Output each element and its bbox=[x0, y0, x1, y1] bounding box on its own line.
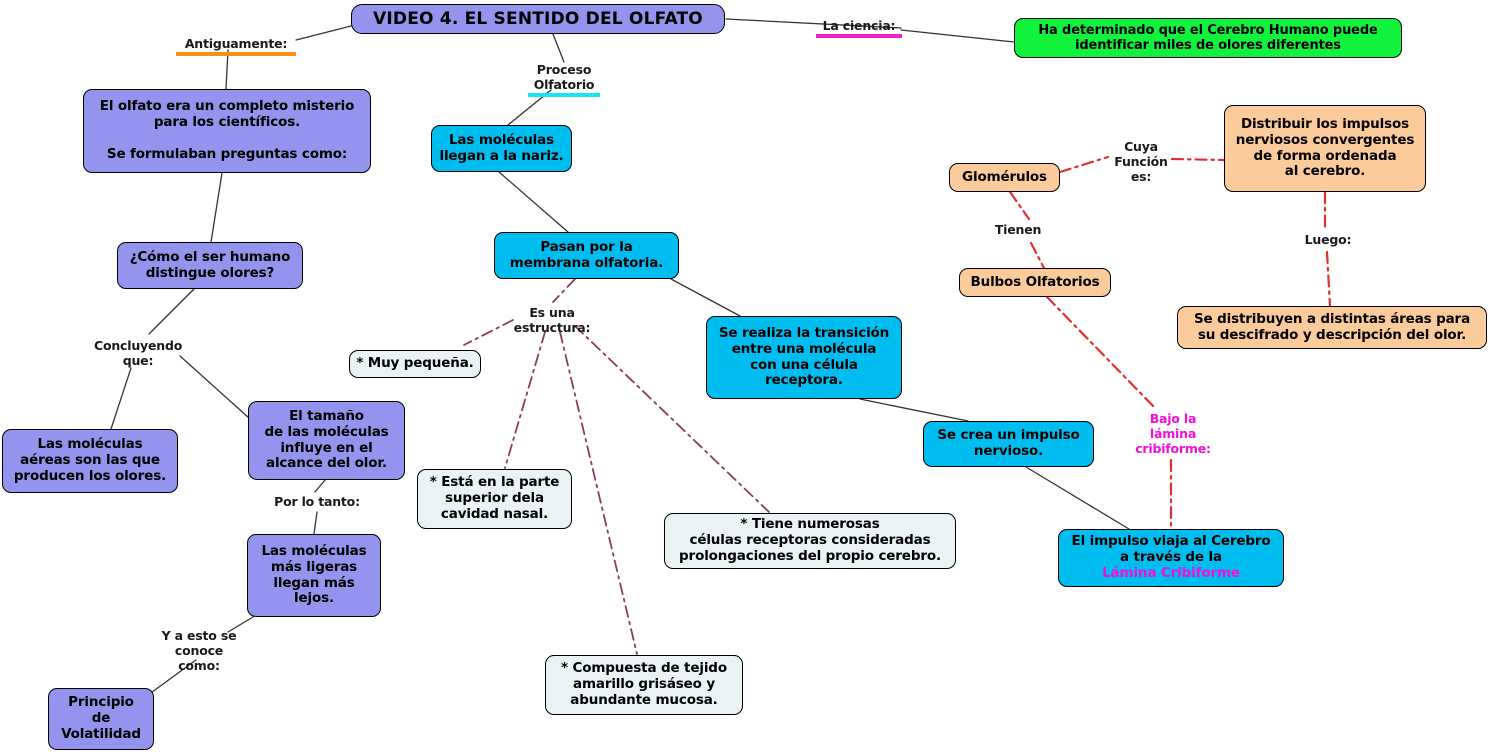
node-ligeras[interactable]: Las moléculas más ligeras llegan más lej… bbox=[247, 534, 381, 617]
node-label-distribuyen: Se distribuyen a distintas áreas para su… bbox=[1194, 312, 1470, 344]
node-label-moleculas_nariz: Las moléculas llegan a la nariz. bbox=[439, 133, 563, 165]
edge-e-impulso-viaja bbox=[1026, 467, 1129, 529]
node-distribuyen[interactable]: Se distribuyen a distintas áreas para su… bbox=[1177, 306, 1487, 349]
node-label-volatilidad: Principio de Volatilidad bbox=[61, 695, 141, 743]
edge-e-bulbos-bajo bbox=[1047, 297, 1156, 409]
node-label-parte_sup: * Está en la parte superior dela cavidad… bbox=[430, 475, 560, 523]
edge-e-concl-tamano bbox=[180, 356, 249, 418]
node-muy_pequena[interactable]: * Muy pequeña. bbox=[349, 350, 481, 378]
node-compuesta[interactable]: * Compuesta de tejido amarillo grisáseo … bbox=[545, 655, 743, 715]
link-label-text-antiguamente: Antiguamente: bbox=[185, 36, 287, 51]
node-label-glomerulos: Glomérulos bbox=[962, 170, 1047, 186]
node-label-aereas: Las moléculas aéreas son las que produce… bbox=[14, 437, 166, 485]
edge-e-misterio-disting bbox=[211, 173, 222, 242]
node-label-membrana: Pasan por la membrana olfatoria. bbox=[510, 240, 663, 272]
link-label-text-proceso: Proceso Olfatorio bbox=[534, 62, 595, 92]
node-parte_sup[interactable]: * Está en la parte superior dela cavidad… bbox=[417, 469, 572, 529]
link-label-cuya_funcion: Cuya Función es: bbox=[1110, 139, 1172, 184]
node-moleculas_nariz[interactable]: Las moléculas llegan a la nariz. bbox=[431, 125, 572, 172]
edge-e-tamano-porlo bbox=[315, 480, 325, 492]
link-label-text-por_lo_tanto: Por lo tanto: bbox=[274, 494, 360, 509]
edge-e-cuya-distribuir bbox=[1172, 159, 1224, 160]
link-label-text-concluyendo: Concluyendo que: bbox=[94, 338, 182, 368]
edge-e-porlo-ligeras bbox=[314, 512, 317, 534]
node-transicion[interactable]: Se realiza la transición entre una moléc… bbox=[706, 316, 902, 399]
edge-e-concl-aereas bbox=[111, 368, 131, 429]
link-label-tienen: Tienen bbox=[991, 222, 1045, 237]
edge-e-ciencia-green bbox=[901, 30, 1014, 42]
link-label-bajo_lamina: Bajo la lámina cribiforme: bbox=[1130, 411, 1216, 456]
underline-antiguamente bbox=[176, 52, 296, 56]
node-label-tiene_numerosas: * Tiene numerosas células receptoras con… bbox=[679, 517, 941, 565]
link-label-por_lo_tanto: Por lo tanto: bbox=[273, 494, 361, 509]
node-label-transicion: Se realiza la transición entre una moléc… bbox=[719, 326, 889, 390]
node-label-distribuir: Distribuir los impulsos nerviosos conver… bbox=[1236, 117, 1414, 181]
node-bulbos[interactable]: Bulbos Olfatorios bbox=[959, 268, 1111, 297]
edge-e-esuna-pequena bbox=[464, 320, 513, 345]
link-label-antiguamente: Antiguamente: bbox=[176, 36, 296, 56]
edge-e-tienen-bulbos bbox=[1031, 243, 1044, 268]
edge-e-luego-distrib bbox=[1327, 252, 1330, 306]
node-glomerulos[interactable]: Glomérulos bbox=[949, 163, 1060, 192]
edge-e-disting-concl bbox=[149, 289, 194, 334]
node-distribuir[interactable]: Distribuir los impulsos nerviosos conver… bbox=[1224, 105, 1426, 192]
link-label-text-bajo_lamina: Bajo la lámina cribiforme: bbox=[1135, 411, 1211, 456]
link-label-luego: Luego: bbox=[1303, 232, 1353, 247]
edge-e-esuna-parte bbox=[505, 332, 545, 468]
link-label-text-cuya_funcion: Cuya Función es: bbox=[1114, 139, 1168, 184]
concept-map-canvas: VIDEO 4. EL SENTIDO DEL OLFATOHa determi… bbox=[0, 0, 1490, 752]
node-misterio[interactable]: El olfato era un completo misterio para … bbox=[83, 89, 371, 173]
link-label-es_una_estr: Es una estructura: bbox=[513, 305, 591, 335]
node-label-misterio: El olfato era un completo misterio para … bbox=[100, 99, 354, 163]
link-label-text-tienen: Tienen bbox=[995, 222, 1041, 237]
edge-e-glom-tienen bbox=[1010, 192, 1029, 219]
edge-e-membrana-esuna bbox=[553, 279, 575, 302]
node-accent-viaja_cerebro: Lámina Cribiforme bbox=[1102, 565, 1240, 581]
edge-e-mol-membrana bbox=[499, 172, 568, 232]
node-label-ciencia_box: Ha determinado que el Cerebro Humano pue… bbox=[1038, 23, 1377, 54]
link-label-text-luego: Luego: bbox=[1305, 232, 1352, 247]
link-label-proceso: Proceso Olfatorio bbox=[528, 62, 600, 97]
node-distingue[interactable]: ¿Cómo el ser humano distingue olores? bbox=[117, 242, 303, 289]
underline-la_ciencia bbox=[816, 34, 902, 38]
link-label-text-es_una_estr: Es una estructura: bbox=[514, 305, 591, 335]
edge-e-trans-impulso bbox=[860, 399, 968, 421]
edge-e-title-antig bbox=[296, 26, 351, 40]
edge-e-title-proceso bbox=[553, 34, 564, 62]
node-label-tamano: El tamaño de las moléculas influye en el… bbox=[264, 409, 388, 473]
edge-e-glom-cuya bbox=[1060, 157, 1108, 172]
node-title[interactable]: VIDEO 4. EL SENTIDO DEL OLFATO bbox=[351, 4, 725, 34]
node-impulso_nerv[interactable]: Se crea un impulso nervioso. bbox=[923, 421, 1094, 467]
node-membrana[interactable]: Pasan por la membrana olfatoria. bbox=[494, 232, 679, 279]
node-ciencia_box[interactable]: Ha determinado que el Cerebro Humano pue… bbox=[1014, 18, 1402, 58]
node-label-compuesta: * Compuesta de tejido amarillo grisáseo … bbox=[561, 661, 727, 709]
node-label-title: VIDEO 4. EL SENTIDO DEL OLFATO bbox=[373, 9, 703, 29]
node-label-viaja_cerebro: El impulso viaja al Cerebro a través de … bbox=[1072, 534, 1271, 582]
node-viaja_cerebro[interactable]: El impulso viaja al Cerebro a través de … bbox=[1058, 529, 1284, 587]
node-label-bulbos: Bulbos Olfatorios bbox=[970, 275, 1099, 291]
node-volatilidad[interactable]: Principio de Volatilidad bbox=[48, 688, 154, 750]
node-label-impulso_nerv: Se crea un impulso nervioso. bbox=[937, 428, 1079, 460]
link-label-concluyendo: Concluyendo que: bbox=[94, 338, 182, 368]
node-label-muy_pequena: * Muy pequeña. bbox=[356, 356, 473, 372]
link-label-y_a_esto: Y a esto se conoce como: bbox=[153, 628, 245, 673]
node-aereas[interactable]: Las moléculas aéreas son las que produce… bbox=[2, 429, 178, 493]
node-tamano[interactable]: El tamaño de las moléculas influye en el… bbox=[248, 401, 405, 480]
edge-e-membrana-trans bbox=[671, 279, 740, 316]
link-label-text-la_ciencia: La ciencia: bbox=[823, 18, 896, 33]
node-label-ligeras: Las moléculas más ligeras llegan más lej… bbox=[261, 544, 366, 608]
link-label-la_ciencia: La ciencia: bbox=[816, 18, 902, 38]
node-tiene_numerosas[interactable]: * Tiene numerosas células receptoras con… bbox=[664, 513, 956, 569]
link-label-text-y_a_esto: Y a esto se conoce como: bbox=[162, 628, 237, 673]
underline-proceso bbox=[528, 93, 600, 97]
node-label-distingue: ¿Cómo el ser humano distingue olores? bbox=[130, 250, 291, 282]
